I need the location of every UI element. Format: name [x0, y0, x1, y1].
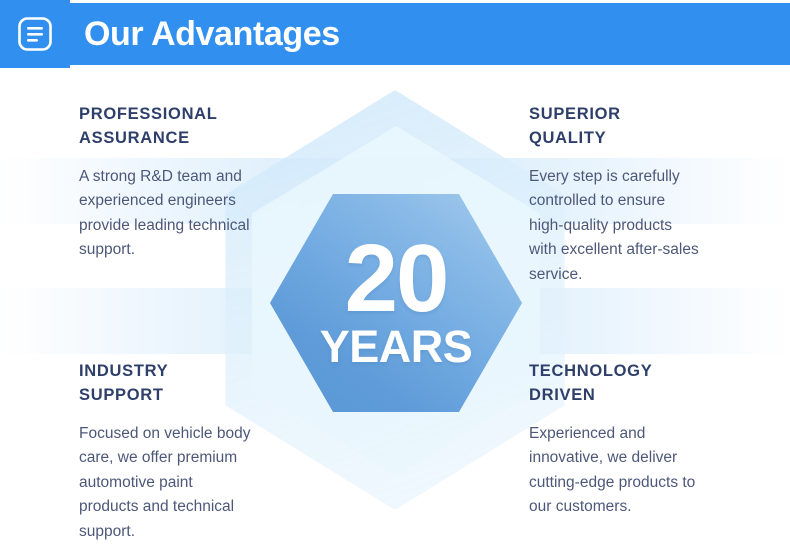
badge-unit: YEARS	[320, 324, 473, 369]
advantage-industry-support: INDUSTRY SUPPORT Focused on vehicle body…	[79, 360, 329, 544]
header: Our Advantages	[0, 0, 790, 68]
advantage-title: SUPERIOR QUALITY	[529, 103, 779, 151]
advantage-body: Focused on vehicle body care, we offer p…	[79, 422, 329, 544]
advantage-body: A strong R&D team and experienced engine…	[79, 165, 329, 263]
advantage-title: PROFESSIONAL ASSURANCE	[79, 103, 329, 151]
header-icon-box	[0, 0, 70, 68]
advantage-title: INDUSTRY SUPPORT	[79, 360, 329, 408]
advantage-body: Every step is carefully controlled to en…	[529, 165, 779, 287]
advantage-technology-driven: TECHNOLOGY DRIVEN Experienced and innova…	[529, 360, 779, 520]
advantage-body: Experienced and innovative, we deliver c…	[529, 422, 779, 520]
document-lines-icon	[17, 16, 53, 52]
page-title: Our Advantages	[84, 0, 340, 68]
badge-number: 20	[345, 237, 448, 321]
advantage-professional-assurance: PROFESSIONAL ASSURANCE A strong R&D team…	[79, 103, 329, 263]
advantage-title: TECHNOLOGY DRIVEN	[529, 360, 779, 408]
advantages-infographic: Our Advantages 20 YEARS PROFESSIONAL ASS…	[0, 0, 790, 560]
advantage-superior-quality: SUPERIOR QUALITY Every step is carefully…	[529, 103, 779, 287]
